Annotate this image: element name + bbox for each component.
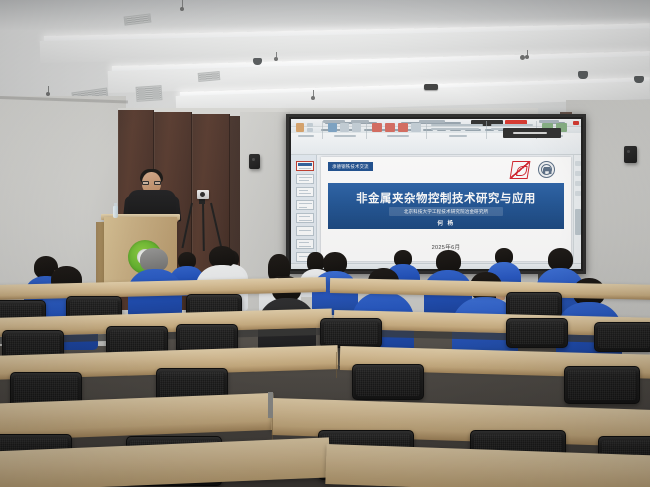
right-sidebar-rail[interactable]	[573, 155, 581, 263]
tripod-head	[199, 199, 205, 204]
chair-r2-6	[594, 322, 650, 352]
slide-thumbnail-7[interactable]	[296, 239, 314, 249]
screen-content: 承德钢铁技术交流 非金属夹杂物控制技术研究与应用 北京科技大学工程技术研究院冶金…	[291, 119, 581, 269]
wall-speaker-left	[249, 154, 260, 169]
sprinkler-5	[525, 55, 529, 59]
slide-subtitle: 北京科技大学工程技术研究院冶金研究所	[404, 209, 489, 215]
ribbon-group-font[interactable]	[369, 121, 427, 139]
sprinkler-1	[180, 7, 184, 11]
slide-thumbnail-2[interactable]	[296, 174, 314, 184]
ribbon-group-paragraph[interactable]	[429, 121, 487, 139]
ceiling-sensor-1	[520, 55, 525, 60]
ceiling-speaker-1	[253, 58, 262, 65]
chair-r3-3	[352, 364, 424, 400]
status-view-buttons[interactable]	[419, 120, 445, 123]
tooltip-text	[513, 132, 547, 134]
presenter-glasses-icon	[142, 181, 161, 185]
sprinkler-4	[274, 57, 278, 61]
ustb-university-seal-icon	[538, 161, 555, 178]
air-vent-4	[198, 71, 221, 82]
window-close-button[interactable]	[573, 121, 579, 125]
video-camera	[197, 190, 209, 199]
status-zoom-level[interactable]	[539, 120, 559, 123]
wall-speaker-right	[624, 146, 637, 163]
rail-button-1[interactable]	[575, 161, 581, 166]
scrollbar-thumb[interactable]	[575, 209, 581, 235]
slide-thumbnail-3[interactable]	[296, 187, 314, 197]
ceiling-speaker-4	[634, 76, 644, 83]
chair-r2-5	[506, 318, 568, 348]
slide-thumbnail-4[interactable]	[296, 200, 314, 210]
chair-r2-4	[320, 318, 382, 348]
chair-backrest	[594, 322, 650, 352]
slide-thumbnail-6[interactable]	[296, 226, 314, 236]
slide-banner-tab: 承德钢铁技术交流	[328, 162, 373, 171]
rail-button-2[interactable]	[575, 171, 581, 176]
status-language	[351, 120, 369, 123]
ceiling-speaker-3	[578, 71, 588, 79]
rail-button-4[interactable]	[575, 191, 581, 196]
air-vent-2	[136, 85, 163, 102]
chair-backrest	[506, 318, 568, 348]
sprinkler-3	[311, 96, 315, 100]
rail-button-3[interactable]	[575, 181, 581, 186]
slide-thumbnail-1[interactable]	[296, 161, 314, 171]
slide-thumbnail-5[interactable]	[296, 213, 314, 223]
water-bottle	[113, 206, 118, 218]
chair-backrest	[352, 364, 424, 400]
ribbon-group-clipboard[interactable]	[293, 121, 323, 139]
desk-row-3-seam	[336, 352, 337, 378]
slide-banner-label: 承德钢铁技术交流	[332, 163, 369, 169]
red-diamond-logo-icon	[510, 161, 531, 179]
chair-backrest	[320, 318, 382, 348]
conference-room-photo: 承德钢铁技术交流 非金属夹杂物控制技术研究与应用 北京科技大学工程技术研究院冶金…	[0, 0, 650, 487]
current-slide[interactable]: 承德钢铁技术交流 非金属夹杂物控制技术研究与应用 北京科技大学工程技术研究院冶金…	[321, 157, 571, 261]
chair-r3-4	[564, 366, 640, 404]
status-slide-counter	[323, 120, 345, 123]
slide-title-band: 非金属夹杂物控制技术研究与应用 北京科技大学工程技术研究院冶金研究所 何 杨	[328, 183, 564, 229]
ribbon-group-slides[interactable]	[325, 121, 367, 139]
desk-row-4-leg	[268, 392, 273, 418]
chair-backrest	[564, 366, 640, 404]
slide-subtitle-box: 北京科技大学工程技术研究院冶金研究所	[389, 207, 502, 216]
slide-title: 非金属夹杂物控制技术研究与应用	[328, 190, 564, 206]
ceiling-speaker-2	[424, 84, 438, 90]
slide-thumbnail-panel[interactable]	[291, 155, 317, 263]
slide-author: 何 杨	[328, 219, 564, 227]
